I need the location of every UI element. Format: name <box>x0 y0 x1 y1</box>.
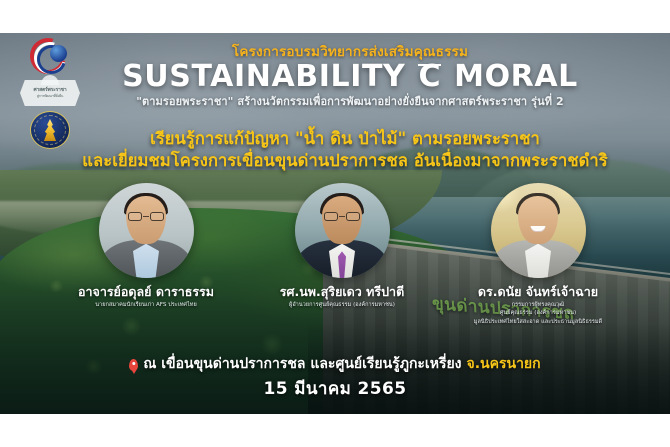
ribbon-line-2: สู่การพัฒนาที่ยั่งยืน <box>34 94 67 98</box>
avatar <box>491 183 586 278</box>
poster-title: SUSTAINABILITY C MORAL <box>30 61 670 93</box>
speaker-shirt <box>525 244 551 278</box>
speaker-card: ดร.ดนัย จันทร์เจ้าฉาย กรรมการผู้ทรงคุณวุ… <box>452 183 624 326</box>
program-tagline: "ตามรอยพระราชา" สร้างนวัตกรรมเพื่อการพัฒ… <box>30 96 670 109</box>
moral-center-emblem-icon <box>30 111 70 149</box>
glasses-icon <box>324 212 360 222</box>
afs-swoosh-logo-icon <box>29 37 71 75</box>
subtitle-line-1: เรียนรู้การแก้ปัญหา "น้ำ ดิน ป่าไม้" ตาม… <box>20 128 670 150</box>
title-part-1: SUSTAINABILITY <box>122 59 405 94</box>
speaker-name: รศ.นพ.สุริยเดว ทรีปาตี <box>280 285 404 299</box>
avatar <box>295 183 390 278</box>
speaker-name: ดร.ดนัย จันทร์เจ้าฉาย <box>478 285 598 299</box>
location-row: ณ เขื่อนขุนด่านปราการชล และศูนย์เรียนรู้… <box>0 356 670 373</box>
event-poster: ขุนด่านปราการชล ศาสตร์พระราชา สู่การพัฒน… <box>0 33 670 414</box>
ribbon-text: ศาสตร์พระราชา สู่การพัฒนาที่ยั่งยืน <box>34 88 67 98</box>
swoosh-sphere <box>50 45 67 62</box>
speaker-role: ผู้อำนวยการศูนย์คุณธรรม (องค์การมหาชน) <box>289 301 395 309</box>
title-part-2: MORAL <box>454 59 578 94</box>
speaker-card: รศ.นพ.สุริยเดว ทรีปาตี ผู้อำนวยการศูนย์ค… <box>256 183 428 309</box>
map-pin-icon <box>129 359 138 371</box>
poster-header: โครงการอบรมวิทยากรส่งเสริมคุณธรรม SUSTAI… <box>0 45 670 109</box>
speaker-role: กรรมการผู้ทรงคุณวุฒิ ศูนย์คุณธรรม (องค์ก… <box>474 301 602 325</box>
event-date: 15 มีนาคม 2565 <box>0 375 670 402</box>
speaker-role-line: กรรมการผู้ทรงคุณวุฒิ <box>512 302 564 308</box>
speaker-role: นายกสมาคมนักเรียนเก่า AFS ประเทศไทย <box>95 301 197 309</box>
title-symbol-c: C <box>416 61 443 93</box>
speaker-shirt <box>133 244 159 278</box>
screenshot-canvas: ขุนด่านปราการชล ศาสตร์พระราชา สู่การพัฒน… <box>0 0 670 447</box>
speaker-name: อาจารย์อดุลย์ ดาราธรรม <box>78 285 214 299</box>
province-text: จ.นครนายก <box>467 356 541 373</box>
speaker-list: อาจารย์อดุลย์ ดาราธรรม นายกสมาคมนักเรียน… <box>0 183 670 353</box>
speaker-role-line: ศูนย์คุณธรรม (องค์การมหาชน) <box>500 310 576 316</box>
speaker-face <box>518 196 558 244</box>
location-text: ณ เขื่อนขุนด่านปราการชล และศูนย์เรียนรู้… <box>143 356 461 373</box>
poster-footer: ณ เขื่อนขุนด่านปราการชล และศูนย์เรียนรู้… <box>0 356 670 402</box>
ribbon-line-1: ศาสตร์พระราชา <box>34 87 67 93</box>
royal-ribbon-logo-icon: ศาสตร์พระราชา สู่การพัฒนาที่ยั่งยืน <box>14 78 86 108</box>
subtitle-line-2: และเยี่ยมชมโครงการเขื่อนขุนด่านปราการชล … <box>20 150 670 172</box>
logo-stack: ศาสตร์พระราชา สู่การพัฒนาที่ยั่งยืน <box>8 37 92 149</box>
glasses-icon <box>128 212 164 222</box>
speaker-role-line: มูลนิธิประเทศไทยใสสะอาด และประธานมูลนิธิ… <box>474 319 602 325</box>
speaker-card: อาจารย์อดุลย์ ดาราธรรม นายกสมาคมนักเรียน… <box>60 183 232 309</box>
program-eyebrow: โครงการอบรมวิทยากรส่งเสริมคุณธรรม <box>30 45 670 60</box>
avatar <box>99 183 194 278</box>
poster-subtitle: เรียนรู้การแก้ปัญหา "น้ำ ดิน ป่าไม้" ตาม… <box>0 128 670 172</box>
